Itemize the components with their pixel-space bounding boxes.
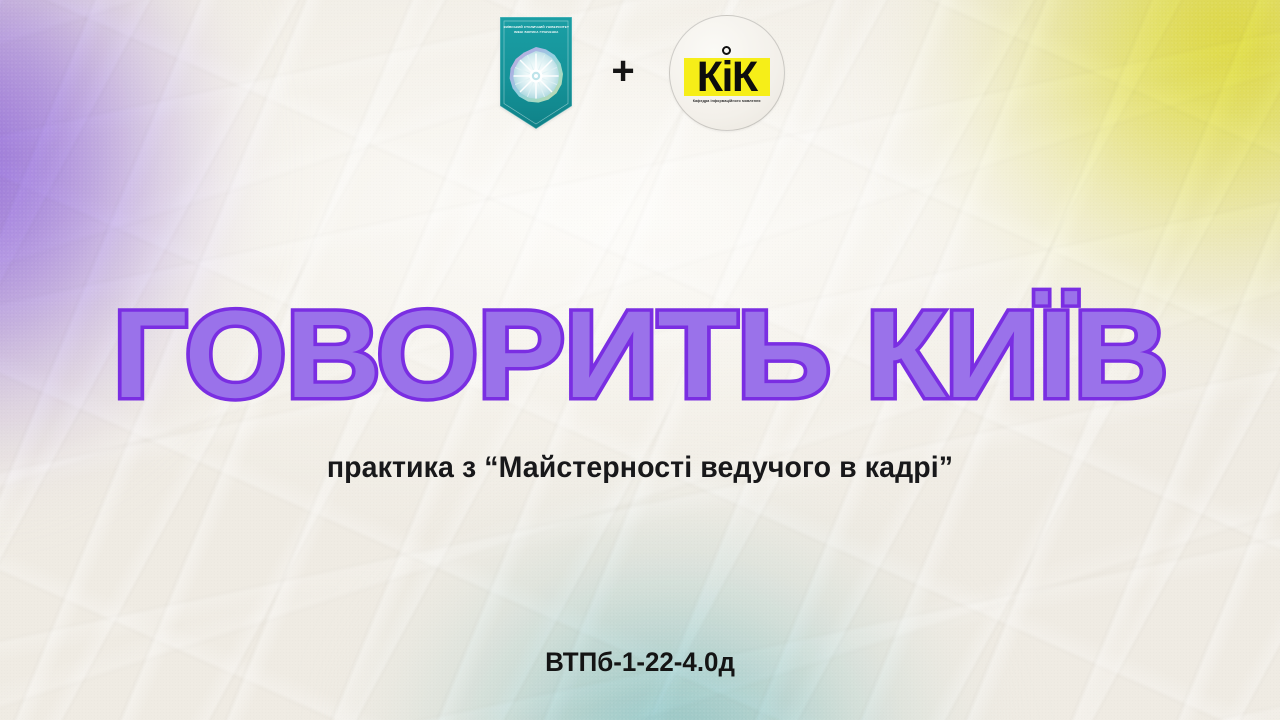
poster-canvas: КИЇВСЬКИЙ СТОЛИЧНИЙ УНІВЕРСИТЕТ ІМЕНІ БО…	[0, 0, 1280, 720]
university-shield-logo: КИЇВСЬКИЙ СТОЛИЧНИЙ УНІВЕРСИТЕТ ІМЕНІ БО…	[495, 14, 577, 132]
kik-department-subtext: Кафедра інформаційного мовлення	[680, 99, 774, 104]
logo-row: КИЇВСЬКИЙ СТОЛИЧНИЙ УНІВЕРСИТЕТ ІМЕНІ БО…	[0, 14, 1280, 132]
page-title: ГОВОРИТЬ КИЇВ	[0, 296, 1280, 414]
kik-letters: КіК	[670, 52, 784, 102]
plus-icon: +	[611, 51, 634, 91]
group-code-label: ВТПб-1-22-4.0д	[26, 645, 1255, 679]
university-name-caption: КИЇВСЬКИЙ СТОЛИЧНИЙ УНІВЕРСИТЕТ ІМЕНІ БО…	[502, 25, 570, 34]
kik-department-logo: КіК Кафедра інформаційного мовлення	[669, 15, 785, 131]
page-subtitle: практика з “Майстерності ведучого в кадр…	[32, 449, 1248, 487]
